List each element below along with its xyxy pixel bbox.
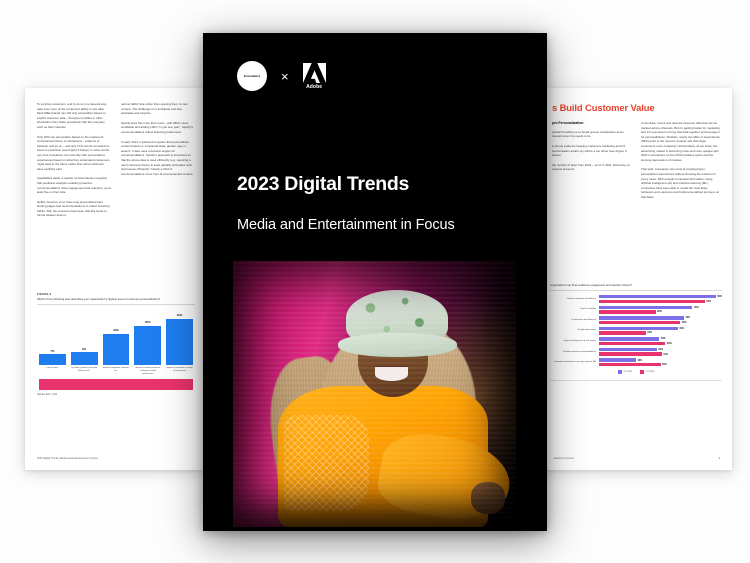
hbar-row: Partnerships and alliances 42% 40%	[550, 316, 722, 324]
hbar-2023	[599, 348, 657, 351]
hbar-value: 28%	[657, 310, 662, 313]
hbar-value: 18%	[637, 359, 642, 362]
figure-3-horizontal-bar-chart: organization's top three audience engage…	[550, 284, 722, 381]
bar-category-label: Based on customer's history of interacti…	[166, 367, 193, 376]
figure-divider	[37, 304, 195, 305]
bar-group: 30% Based on customer's history of inter…	[166, 308, 193, 376]
hbar-value: 39%	[679, 327, 684, 330]
bar-value-label: 20%	[113, 328, 119, 332]
hbar-row: Insight and creative 39% 23%	[550, 327, 722, 335]
times-separator-icon: ×	[281, 70, 289, 83]
section-heading: s Build Customer Value	[552, 102, 720, 113]
hbar-2022	[599, 352, 662, 355]
hbar-line: 29%	[599, 348, 722, 351]
hbar-category-label: Insight and creative	[550, 329, 599, 332]
background-document-left: To surprise customers, and to do so in a…	[25, 88, 207, 470]
hbar-value: 33%	[667, 342, 672, 345]
figure-divider-bottom	[550, 380, 722, 381]
hbar-line: 52%	[599, 300, 722, 303]
bar-category-label: Little or none	[46, 367, 58, 376]
bar-chart-plot: 7% Little or none 8% By name, product, p…	[37, 308, 195, 376]
bar-value-label: 8%	[82, 347, 86, 351]
body-paragraph: Netflix, Amazon, et al. have long person…	[37, 200, 111, 218]
right-page-column-2: of accurate, recent and relevant custome…	[641, 121, 720, 205]
hbar-pair: 39% 23%	[599, 327, 722, 335]
hbar-pair: 30% 33%	[599, 337, 722, 345]
cover-logo-lockup: Econsultancy × Adobe	[237, 61, 326, 91]
hbar-pair: 58% 52%	[599, 295, 722, 303]
hbar-value: 52%	[706, 300, 711, 303]
footer-text: ...tainment in Focus	[552, 457, 574, 460]
hbar-line: 30%	[599, 337, 722, 340]
body-paragraph: of accurate, recent and relevant custome…	[641, 121, 720, 162]
hbar-2023	[599, 358, 636, 361]
bar-category-label: Across channels based on customer's stat…	[134, 367, 161, 376]
bar-category-label: Based on segment, interests etc.	[103, 367, 130, 376]
bar	[166, 319, 193, 365]
legend-swatch	[640, 370, 644, 374]
adobe-wordmark: Adobe	[306, 84, 322, 90]
hbar-line: 23%	[599, 331, 722, 334]
body-paragraph: Spotify does this more than most – with …	[121, 121, 195, 135]
body-paragraph: That said, companies can excel at creati…	[641, 167, 720, 199]
body-paragraph: the number of ation from 2022 – up % to …	[552, 163, 631, 172]
legend-label: DT 2023	[624, 371, 632, 373]
right-page-footer: ...tainment in Focus 9	[552, 457, 720, 460]
hbar-category-label: Partnerships and alliances	[550, 319, 599, 322]
hbar-pair: 18% 30%	[599, 358, 722, 366]
hbar-value: 30%	[661, 337, 666, 340]
body-paragraph: To surprise customers, and to do so in a…	[37, 102, 111, 130]
hbar-category-label: Innovative experiences e.g. apps, games,…	[550, 361, 599, 364]
hbar-value: 58%	[717, 295, 722, 298]
legend-swatch	[618, 370, 622, 374]
hbar-2023	[599, 327, 678, 330]
figure-divider	[550, 290, 722, 291]
left-page-columns: To surprise customers, and to do so in a…	[37, 102, 195, 223]
cover-title: 2023 Digital Trends	[237, 173, 523, 196]
hbar-line: 42%	[599, 316, 722, 319]
hbar-value: 46%	[694, 306, 699, 309]
bar	[39, 354, 66, 365]
econsultancy-wordmark: Econsultancy	[244, 75, 260, 78]
hbar-line: 28%	[599, 310, 722, 313]
hbar-2022	[599, 321, 680, 324]
bar-category-label: By name, product, purchase follow-up etc…	[71, 367, 98, 376]
report-cover: Econsultancy × Adobe 2023 Digital Trends…	[203, 33, 547, 531]
hbar-row: Digital and physical e.g. live events 30…	[550, 337, 722, 345]
hbar-value: 29%	[658, 348, 663, 351]
body-paragraph: Only 22% can personalize based on the cu…	[37, 135, 111, 172]
bar-group: 20% Based on segment, interests etc.	[103, 308, 130, 376]
hbar-2022	[599, 310, 656, 313]
right-page-content: s Build Customer Value per-Personalizati…	[540, 88, 732, 470]
bar-value-label: 25%	[145, 320, 151, 324]
hbar-2023	[599, 306, 692, 309]
hbar-value: 23%	[647, 331, 652, 334]
hbar-line: 58%	[599, 295, 722, 298]
bar	[103, 334, 130, 365]
figure-question: organization's top three audience engage…	[550, 284, 722, 287]
page-canvas: To surprise customers, and to do so in a…	[0, 0, 750, 563]
figure-5-bar-chart: FIGURE 5 Which of the following best des…	[37, 293, 195, 396]
hbar-category-label: Content innovation and delivery	[550, 298, 599, 301]
hbar-value: 31%	[663, 353, 668, 356]
hbar-value: 42%	[685, 316, 690, 319]
figure-question: Which of the following best describes yo…	[37, 298, 195, 302]
hbar-row: Enable proactive recommendations 29% 31%	[550, 348, 722, 356]
hbar-category-label: Digital and physical e.g. live events	[550, 340, 599, 343]
hbar-row: Innovative experiences e.g. apps, games,…	[550, 358, 722, 366]
hbar-row: Content innovation and delivery 58% 52%	[550, 295, 722, 303]
hbar-2023	[599, 316, 684, 319]
chart-legend: DT 2023 DT 2022	[550, 370, 722, 374]
section-subheading: per-Personalization	[552, 121, 631, 126]
hbar-2022	[599, 342, 665, 345]
footer-text: 2023 Digital Trends: Media and Entertain…	[37, 457, 98, 460]
figure-sample-size: Sample Size = 100	[37, 393, 195, 396]
hbar-row: Deals or bundles 46% 28%	[550, 306, 722, 314]
hbar-2022	[599, 300, 705, 303]
hbar-line: 30%	[599, 363, 722, 366]
hbar-line: 40%	[599, 321, 722, 324]
legend-item-2023: DT 2023	[618, 370, 632, 374]
adobe-logo-icon: Adobe	[303, 63, 326, 90]
hbar-2022	[599, 363, 661, 366]
bar-group: 8% By name, product, purchase follow-up …	[71, 308, 98, 376]
legend-label: DT 2022	[646, 371, 654, 373]
left-page-column-2: narrow rabbit hole rather than opening t…	[121, 102, 195, 223]
hbar-line: 31%	[599, 352, 722, 355]
bar-value-label: 30%	[177, 313, 183, 317]
hbar-category-label: Enable proactive recommendations	[550, 351, 599, 354]
right-page-columns: per-Personalization product bundling ve …	[552, 121, 720, 205]
page-number: 9	[719, 457, 720, 460]
body-paragraph: narrow rabbit hole rather than opening t…	[121, 102, 195, 116]
hbar-2022	[599, 331, 646, 334]
hbar-line: 46%	[599, 306, 722, 309]
bar-group: 7% Little or none	[39, 308, 66, 376]
legend-item-2022: DT 2022	[640, 370, 654, 374]
figure-label: FIGURE 5	[37, 293, 195, 296]
left-page-content: To surprise customers, and to do so in a…	[25, 88, 207, 470]
hbar-value: 40%	[682, 321, 687, 324]
hbar-pair: 42% 40%	[599, 316, 722, 324]
body-paragraph: is strong evidence keeping customers mar…	[552, 144, 631, 158]
left-page-footer: 2023 Digital Trends: Media and Entertain…	[37, 457, 195, 460]
hbar-line: 33%	[599, 342, 722, 345]
bar	[71, 352, 98, 365]
body-paragraph: Capabilities aside, a quarter of respond…	[37, 176, 111, 194]
body-paragraph: In early 2021, it patented a system that…	[121, 140, 195, 177]
hbar-pair: 29% 31%	[599, 348, 722, 356]
hbar-line: 39%	[599, 327, 722, 330]
left-page-column-1: To surprise customers, and to do so in a…	[37, 102, 111, 223]
cover-subtitle: Media and Entertainment in Focus	[237, 217, 523, 233]
hbar-line: 18%	[599, 358, 722, 361]
body-paragraph: product bundling ve to broad groups onsi…	[552, 130, 631, 139]
econsultancy-logo-icon: Econsultancy	[237, 61, 267, 91]
hbar-2023	[599, 295, 716, 298]
background-document-right: s Build Customer Value per-Personalizati…	[540, 88, 732, 470]
hbar-value: 30%	[662, 363, 667, 366]
bar-value-label: 7%	[50, 349, 54, 353]
photo-bottom-shadow	[233, 261, 516, 527]
hbar-pair: 46% 28%	[599, 306, 722, 314]
hbar-category-label: Deals or bundles	[550, 308, 599, 311]
hbar-2023	[599, 337, 659, 340]
bar	[134, 326, 161, 365]
figure-accent-band	[39, 379, 193, 390]
bar-group: 25% Across channels based on customer's …	[134, 308, 161, 376]
cover-photo	[233, 261, 516, 527]
right-page-column-1: per-Personalization product bundling ve …	[552, 121, 631, 205]
